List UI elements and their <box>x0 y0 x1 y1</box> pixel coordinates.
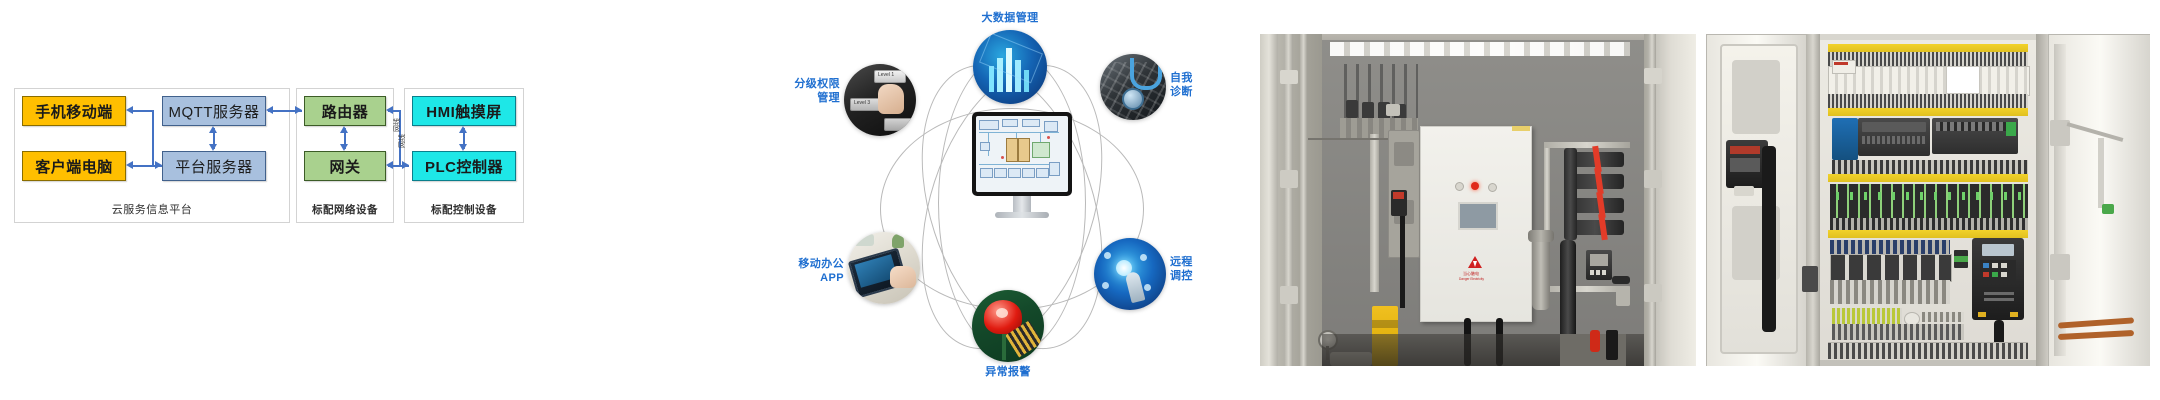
central-monitor <box>972 112 1072 222</box>
composite-figure: 云服务信息平台 标配网络设备 标配控制设备 手机移动端 MQTT服务器 路由器 … <box>0 0 2160 400</box>
monitor-base <box>995 212 1049 218</box>
monitor-screen-scada <box>976 116 1068 192</box>
group-caption-network: 标配网络设备 <box>297 202 393 217</box>
node-label: 路由器 <box>322 101 369 122</box>
bubble-self-diagnosis[interactable] <box>1100 54 1166 120</box>
arrow-down-platform <box>209 144 217 151</box>
arrow-down-gateway <box>340 144 348 151</box>
bubble-big-data[interactable] <box>973 30 1047 104</box>
arrow-right-plc <box>402 161 409 169</box>
bubble-label-alarm: 异常报警 <box>958 366 1058 380</box>
warning-label-en: Danger Electricity <box>1459 277 1484 281</box>
node-label: 网关 <box>329 156 360 177</box>
node-label: MQTT服务器 <box>169 101 260 122</box>
node-mobile-client[interactable]: 手机移动端 <box>22 96 126 126</box>
node-router[interactable]: 路由器 <box>304 96 386 126</box>
iot-capability-infographic: 大数据管理 自我 诊断 远程 调控 异常报警 <box>760 0 1260 400</box>
arrow-to-platform <box>155 161 162 169</box>
node-label: HMI触摸屏 <box>426 101 502 122</box>
photo-plc-control-panel <box>1706 34 2150 366</box>
arrow-up-router <box>340 126 348 133</box>
arrow-left-gateway <box>386 161 393 169</box>
arrow-right-router <box>295 106 302 114</box>
node-client-pc[interactable]: 客户端电脑 <box>22 151 126 181</box>
arrow-up-hmi <box>459 126 467 133</box>
group-caption-control: 标配控制设备 <box>405 202 523 217</box>
wire-label-2: 网线 <box>392 118 402 132</box>
monitor-bezel <box>972 112 1072 196</box>
bubble-mobile-app[interactable] <box>848 232 920 304</box>
bubble-alarm[interactable] <box>972 290 1044 362</box>
bubble-label-big-data: 大数据管理 <box>960 12 1060 26</box>
monitor-neck <box>1013 196 1031 212</box>
node-label: PLC控制器 <box>425 156 503 177</box>
bubble-access-levels[interactable]: Level 1 Level 3 <box>844 64 916 136</box>
bubble-label-self-diagnosis: 自我 诊断 <box>1170 72 1226 100</box>
node-label: 手机移动端 <box>35 101 113 122</box>
arrow-left-router <box>386 106 393 114</box>
node-hmi-touchscreen[interactable]: HMI触摸屏 <box>412 96 516 126</box>
connector-bus-vertical <box>152 110 154 166</box>
bubble-remote-control[interactable] <box>1094 238 1166 310</box>
node-label: 平台服务器 <box>175 156 253 177</box>
bubble-label-remote-control: 远程 调控 <box>1170 256 1226 284</box>
arrow-to-mobile <box>126 106 133 114</box>
arrow-left-mqtt <box>266 106 273 114</box>
arrow-to-pc <box>126 161 133 169</box>
network-architecture-diagram: 云服务信息平台 标配网络设备 标配控制设备 手机移动端 MQTT服务器 路由器 … <box>0 0 760 400</box>
photo-outdoor-dosing-cabinet: 当心触电 Danger Electricity <box>1260 34 1696 366</box>
group-caption-cloud: 云服务信息平台 <box>15 201 289 217</box>
bubble-label-access-levels: 分级权限 管理 <box>764 78 840 106</box>
connector-mobile-bus <box>133 110 153 112</box>
arrow-up-mqtt <box>209 126 217 133</box>
node-mqtt-server[interactable]: MQTT服务器 <box>162 96 266 126</box>
wire-label-1: 网线 <box>397 134 407 148</box>
node-gateway[interactable]: 网关 <box>304 151 386 181</box>
node-plc-controller[interactable]: PLC控制器 <box>412 151 516 181</box>
node-label: 客户端电脑 <box>35 156 113 177</box>
arrow-down-plc <box>459 144 467 151</box>
connector-bus-to-pc <box>133 165 153 167</box>
bubble-label-mobile-app: 移动办公 APP <box>770 258 844 286</box>
node-platform-server[interactable]: 平台服务器 <box>162 151 266 181</box>
